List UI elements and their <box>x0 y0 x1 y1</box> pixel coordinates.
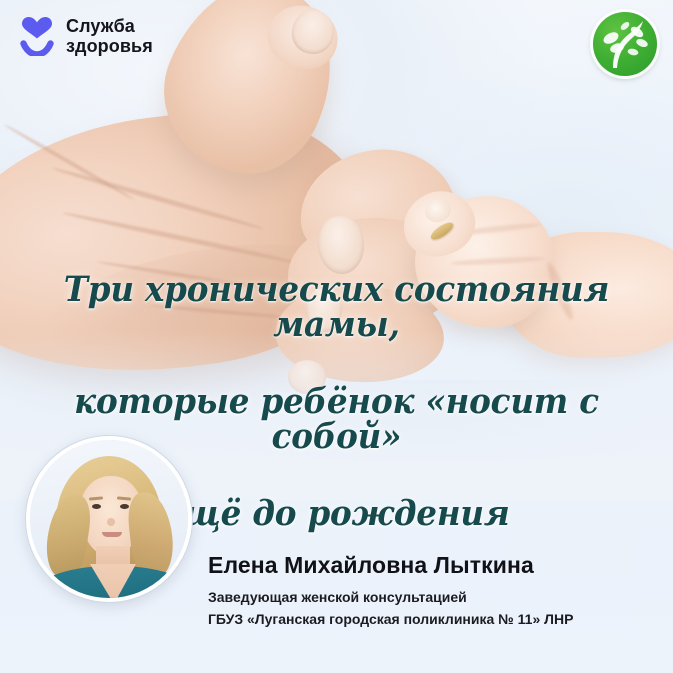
eye <box>92 504 101 509</box>
headline-line-1: Три хронических состояния мамы, <box>24 272 650 342</box>
health-service-poster: Служба здоровья Три хронических состояни… <box>0 0 673 673</box>
nose <box>107 518 115 526</box>
eye <box>120 504 129 509</box>
doctor-portrait-avatar <box>26 436 192 602</box>
doctor-name: Елена Михайловна Лыткина <box>208 552 573 579</box>
doctor-organization: ГБУЗ «Луганская городская поликлиника № … <box>208 609 573 631</box>
green-tree-circle-icon <box>593 12 657 76</box>
brand-logo: Служба здоровья <box>18 16 153 56</box>
brand-name: Служба здоровья <box>66 16 153 56</box>
mouth <box>102 532 122 537</box>
name-badge <box>118 599 157 602</box>
doctor-info: Елена Михайловна Лыткина Заведующая женс… <box>208 552 573 630</box>
heart-smile-icon <box>18 16 56 56</box>
doctor-role: Заведующая женской консультацией <box>208 587 573 609</box>
